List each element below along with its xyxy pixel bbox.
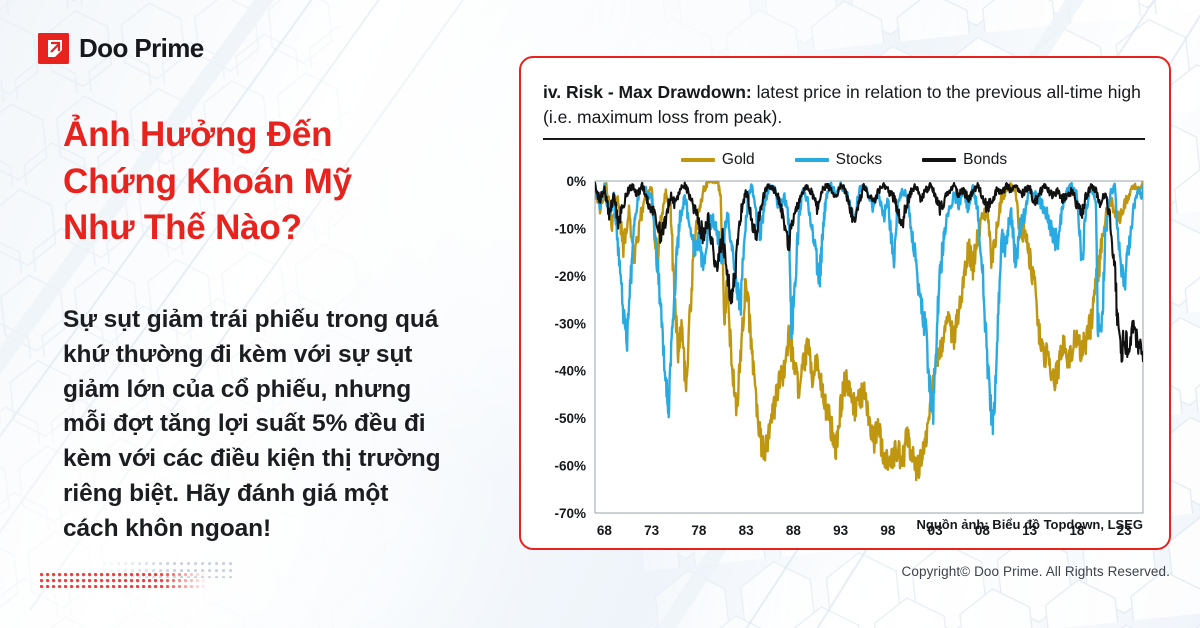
doo-prime-mark-icon [38, 33, 69, 64]
y-axis-tick-label: -50% [554, 411, 586, 426]
page-title: Ảnh Hưởng Đến Chứng Khoán Mỹ Như Thế Nào… [63, 112, 493, 252]
body-line-4: mỗi đợt tăng lợi suất 5% đều đi [63, 407, 483, 442]
legend-label-stocks: Stocks [836, 151, 883, 169]
legend-swatch-bonds [922, 158, 956, 163]
legend-swatch-stocks [795, 158, 829, 163]
y-axis-tick-label: -20% [554, 269, 586, 284]
x-axis-tick-label: 73 [644, 523, 660, 538]
x-axis-tick-label: 68 [597, 523, 613, 538]
y-axis-tick-label: -10% [554, 221, 586, 236]
legend-label-bonds: Bonds [963, 151, 1007, 169]
y-axis-tick-label: -70% [554, 506, 586, 521]
chart-plot-area: 0%-10%-20%-30%-40%-50%-60%-70%6873788388… [543, 175, 1145, 547]
chart-card: iv. Risk - Max Drawdown: latest price in… [519, 56, 1171, 550]
brand-logo: Doo Prime [38, 33, 204, 64]
chart-title: iv. Risk - Max Drawdown: latest price in… [543, 80, 1145, 140]
body-line-6: riêng biệt. Hãy đánh giá một [63, 477, 483, 512]
chart-source-note: Nguồn ảnh: Biểu đồ Topdown, LSEG [916, 517, 1143, 532]
chart-title-bold: iv. Risk - Max Drawdown: [543, 82, 752, 102]
x-axis-tick-label: 98 [880, 523, 896, 538]
headline-line-1: Ảnh Hưởng Đến [63, 112, 493, 159]
brand-name: Doo Prime [79, 33, 204, 64]
legend-swatch-gold [681, 158, 715, 163]
drawdown-line-chart: 0%-10%-20%-30%-40%-50%-60%-70%6873788388… [543, 175, 1149, 547]
y-axis-tick-label: 0% [566, 175, 586, 189]
halftone-red-band [40, 573, 206, 588]
body-line-1: Sự sụt giảm trái phiếu trong quá [63, 303, 483, 338]
x-axis-tick-label: 78 [691, 523, 707, 538]
y-axis-tick-label: -30% [554, 316, 586, 331]
legend-label-gold: Gold [722, 151, 755, 169]
chart-legend: Gold Stocks Bonds [543, 151, 1145, 169]
legend-item-bonds[interactable]: Bonds [922, 151, 1007, 169]
x-axis-tick-label: 93 [833, 523, 849, 538]
x-axis-tick-label: 88 [786, 523, 802, 538]
poster-canvas: Doo Prime Ảnh Hưởng Đến Chứng Khoán Mỹ N… [0, 0, 1200, 628]
headline-line-3: Như Thế Nào? [63, 205, 493, 252]
body-line-3: giảm lớn của cổ phiếu, nhưng [63, 373, 483, 408]
halftone-decoration [40, 562, 240, 590]
copyright-text: Copyright© Doo Prime. All Rights Reserve… [902, 564, 1171, 579]
body-line-2: khứ thường đi kèm với sự sụt [63, 338, 483, 373]
y-axis-tick-label: -60% [554, 458, 586, 473]
body-line-7: cách khôn ngoan! [63, 512, 483, 547]
legend-item-gold[interactable]: Gold [681, 151, 755, 169]
headline-line-2: Chứng Khoán Mỹ [63, 159, 493, 206]
body-line-5: kèm với các điều kiện thị trường [63, 442, 483, 477]
body-copy: Sự sụt giảm trái phiếu trong quá khứ thư… [63, 303, 483, 546]
legend-item-stocks[interactable]: Stocks [795, 151, 883, 169]
y-axis-tick-label: -40% [554, 363, 586, 378]
x-axis-tick-label: 83 [739, 523, 755, 538]
